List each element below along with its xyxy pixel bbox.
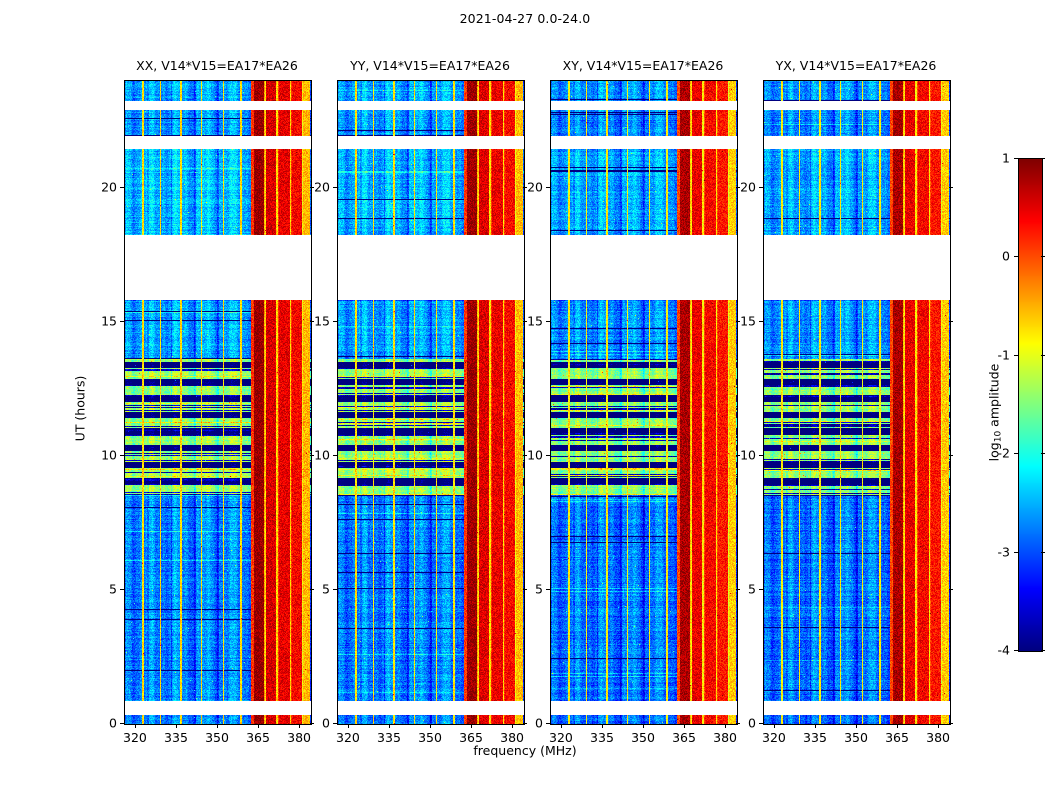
waterfall-canvas (764, 81, 950, 724)
y-tickmark (120, 589, 124, 590)
y-tick-label: 0 (299, 716, 330, 731)
waterfall-canvas (551, 81, 737, 724)
y-tick-label: 10 (512, 448, 543, 463)
x-tickmark (897, 724, 898, 728)
y-tickmark (759, 723, 763, 724)
y-tickmark (546, 187, 550, 188)
x-tickmark (684, 724, 685, 728)
waterfall-canvas (125, 81, 311, 724)
colorbar-label-suffix: amplitude (987, 364, 1002, 431)
y-tickmark (120, 187, 124, 188)
x-tickmark (774, 724, 775, 728)
y-tick-label: 20 (86, 180, 117, 195)
colorbar-tick-label: 1 (976, 151, 1010, 166)
x-tickmark (389, 724, 390, 728)
colorbar-tickmark (1014, 453, 1018, 454)
y-tickmark (759, 187, 763, 188)
y-tick-label: 10 (299, 448, 330, 463)
y-tickmark (759, 589, 763, 590)
colorbar-tick-label: -3 (976, 544, 1010, 559)
y-tick-label: 5 (725, 582, 756, 597)
y-tickmark (949, 187, 953, 188)
waterfall-canvas (338, 81, 524, 724)
x-tickmark (217, 724, 218, 728)
y-tickmark (759, 321, 763, 322)
y-tickmark (546, 455, 550, 456)
spectrum-panel-yx[interactable] (763, 80, 951, 725)
y-tickmark (949, 589, 953, 590)
y-tick-label: 20 (299, 180, 330, 195)
y-tick-label: 15 (725, 314, 756, 329)
y-tick-label: 10 (86, 448, 117, 463)
colorbar-label: log10 amplitude (987, 312, 1004, 512)
y-tickmark (120, 723, 124, 724)
panel-title-yx: YX, V14*V15=EA17*EA26 (763, 58, 949, 73)
y-tickmark (120, 455, 124, 456)
colorbar-tickmark (1041, 256, 1045, 257)
dynamic-spectrum-image (764, 81, 950, 724)
y-axis-label: UT (hours) (73, 309, 88, 509)
y-tickmark (333, 321, 337, 322)
colorbar-tick-label: -4 (976, 643, 1010, 658)
x-tickmark (348, 724, 349, 728)
colorbar-gradient (1019, 159, 1042, 651)
colorbar-tickmark (1041, 552, 1045, 553)
dynamic-spectrum-image (125, 81, 311, 724)
colorbar-tickmark (1041, 355, 1045, 356)
y-tickmark (333, 455, 337, 456)
y-tickmark (333, 723, 337, 724)
y-tickmark (120, 321, 124, 322)
y-tickmark (333, 187, 337, 188)
y-tick-label: 15 (512, 314, 543, 329)
colorbar-tickmark (1041, 650, 1045, 651)
spectrum-panel-xx[interactable] (124, 80, 312, 725)
y-tick-label: 10 (725, 448, 756, 463)
colorbar-tickmark (1014, 650, 1018, 651)
colorbar-tickmark (1014, 552, 1018, 553)
y-tick-label: 0 (512, 716, 543, 731)
y-tickmark (546, 321, 550, 322)
y-tick-label: 0 (725, 716, 756, 731)
panel-title-xy: XY, V14*V15=EA17*EA26 (550, 58, 736, 73)
panel-title-xx: XX, V14*V15=EA17*EA26 (124, 58, 310, 73)
figure-canvas: 2021-04-27 0.0-24.0 XX, V14*V15=EA17*EA2… (0, 0, 1050, 800)
colorbar-tickmark (1041, 158, 1045, 159)
y-tick-label: 5 (299, 582, 330, 597)
colorbar-tick-label: 0 (976, 249, 1010, 264)
x-tickmark (561, 724, 562, 728)
colorbar-tickmark (1014, 158, 1018, 159)
spectrum-panel-yy[interactable] (337, 80, 525, 725)
colorbar (1018, 158, 1043, 652)
x-tickmark (258, 724, 259, 728)
x-tickmark (176, 724, 177, 728)
figure-suptitle: 2021-04-27 0.0-24.0 (0, 11, 1050, 26)
panel-title-yy: YY, V14*V15=EA17*EA26 (337, 58, 523, 73)
y-tick-label: 20 (725, 180, 756, 195)
colorbar-tickmark (1041, 453, 1045, 454)
x-tickmark (815, 724, 816, 728)
x-tickmark (471, 724, 472, 728)
x-tickmark (602, 724, 603, 728)
dynamic-spectrum-image (338, 81, 524, 724)
y-tickmark (759, 455, 763, 456)
spectrum-panel-xy[interactable] (550, 80, 738, 725)
x-tickmark (938, 724, 939, 728)
y-tickmark (949, 455, 953, 456)
colorbar-tickmark (1014, 256, 1018, 257)
y-tickmark (546, 723, 550, 724)
y-tickmark (546, 589, 550, 590)
x-axis-label: frequency (MHz) (0, 743, 1050, 758)
dynamic-spectrum-image (551, 81, 737, 724)
y-tickmark (949, 321, 953, 322)
y-tick-label: 5 (512, 582, 543, 597)
x-tickmark (135, 724, 136, 728)
x-tickmark (856, 724, 857, 728)
x-tickmark (643, 724, 644, 728)
y-tick-label: 5 (86, 582, 117, 597)
colorbar-tickmark (1014, 355, 1018, 356)
y-tickmark (949, 723, 953, 724)
colorbar-label-text: log (987, 442, 1002, 461)
y-tick-label: 0 (86, 716, 117, 731)
x-tickmark (430, 724, 431, 728)
y-tickmark (333, 589, 337, 590)
colorbar-label-subscript: 10 (993, 431, 1003, 442)
y-tick-label: 20 (512, 180, 543, 195)
y-tick-label: 15 (299, 314, 330, 329)
y-tick-label: 15 (86, 314, 117, 329)
